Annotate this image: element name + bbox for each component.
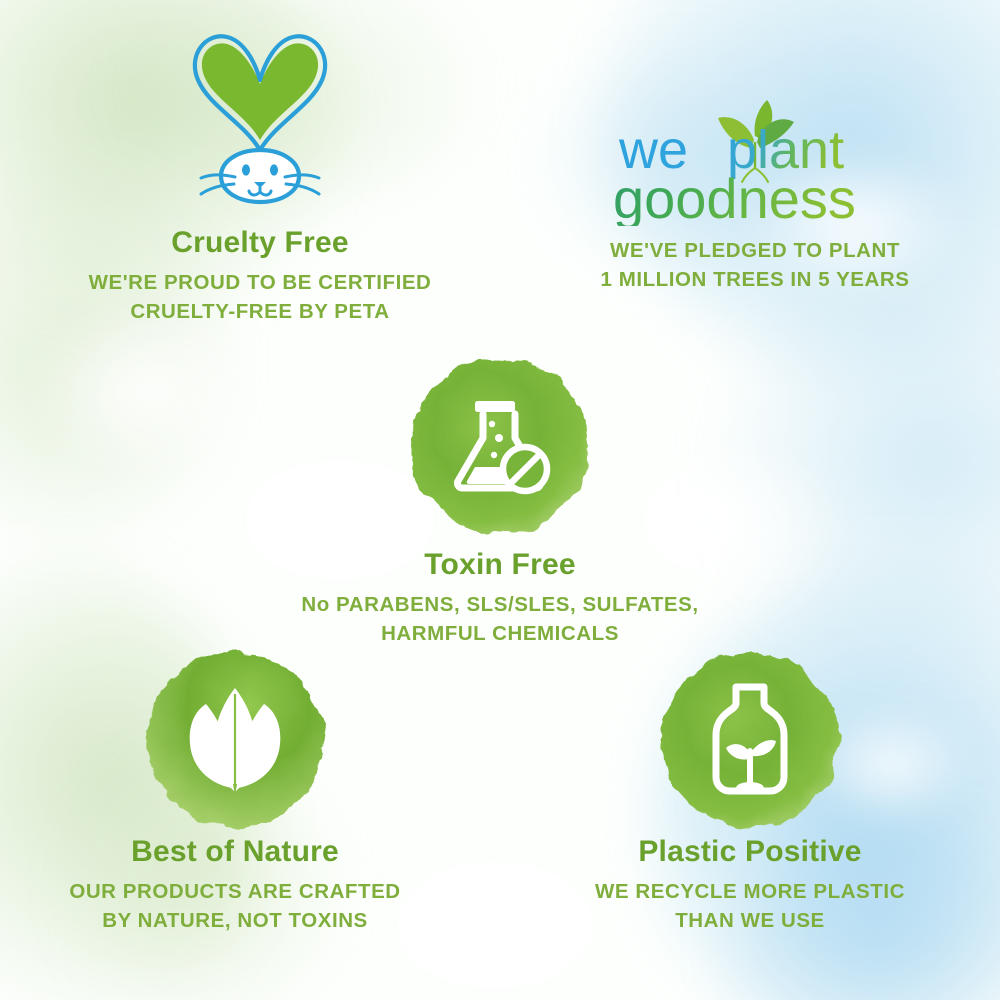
bunny-whisker	[285, 175, 319, 178]
plastic-positive-icon-disc	[655, 645, 845, 835]
sprout-leaf-left	[726, 744, 750, 759]
logo-word-goodness: goodness	[613, 167, 856, 226]
badge-title-toxin-free: Toxin Free	[275, 548, 725, 581]
sprout-soil	[736, 782, 764, 794]
badge-title-plastic-positive: Plastic Positive	[525, 835, 975, 868]
badge-description-best-of-nature: OUR PRODUCTS ARE CRAFTED BY NATURE, NOT …	[10, 877, 460, 935]
badge-title-best-of-nature: Best of Nature	[10, 835, 460, 868]
promo-infographic: Cruelty Free WE'RE PROUD TO BE CERTIFIED…	[0, 0, 1000, 1000]
toxin-free-icon-disc	[405, 352, 595, 542]
bottle-sprout-icon	[698, 681, 802, 799]
flask-bubble	[489, 421, 495, 427]
badge-cruelty-free: Cruelty Free WE'RE PROUD TO BE CERTIFIED…	[35, 22, 485, 326]
badge-description-we-plant-goodness: WE'VE PLEDGED TO PLANT 1 MILLION TREES I…	[530, 236, 980, 294]
badge-we-plant-goodness: we plant goodness WE'VE PLEDGED TO PLANT…	[530, 96, 980, 294]
badge-best-of-nature: Best of Nature OUR PRODUCTS ARE CRAFTED …	[10, 645, 460, 935]
we-plant-goodness-logo: we plant goodness	[605, 96, 905, 226]
three-leaves-icon	[180, 684, 290, 796]
best-of-nature-icon-disc	[140, 645, 330, 835]
bunny-eye-left	[242, 164, 250, 175]
heart-ears-fill	[202, 43, 318, 140]
badge-description-cruelty-free: WE'RE PROUD TO BE CERTIFIED CRUELTY-FREE…	[35, 268, 485, 326]
bunny-whisker	[201, 175, 235, 178]
bunny-eye-right	[270, 164, 278, 175]
badge-title-cruelty-free: Cruelty Free	[35, 226, 485, 259]
flask-bubble	[491, 452, 497, 458]
blue-wash-right	[710, 250, 1000, 670]
badge-toxin-free: Toxin Free No PARABENS, SLS/SLES, SULFAT…	[275, 352, 725, 648]
badge-description-toxin-free: No PARABENS, SLS/SLES, SULFATES, HARMFUL…	[275, 590, 725, 648]
flask-prohibited-icon	[446, 393, 554, 501]
badge-plastic-positive: Plastic Positive WE RECYCLE MORE PLASTIC…	[525, 645, 975, 935]
badge-description-plastic-positive: WE RECYCLE MORE PLASTIC THAN WE USE	[525, 877, 975, 935]
flask-cap	[475, 401, 515, 412]
cloud-highlight	[20, 300, 260, 480]
bunny-heart-ears-icon	[165, 22, 355, 212]
sprout-leaf-right	[752, 740, 776, 756]
flask-bubble	[495, 434, 503, 442]
